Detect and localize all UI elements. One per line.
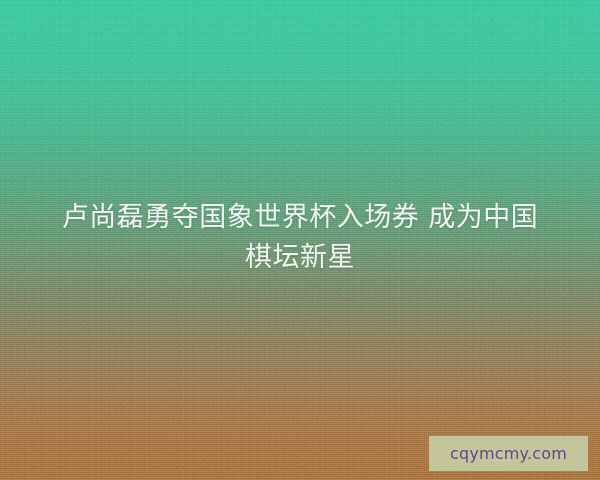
- watermark-badge: cqymcmy.com: [429, 436, 588, 471]
- watermark-site-label: cqymcmy.com: [450, 446, 567, 462]
- page-title: 卢尚磊勇夺国象世界杯入场券 成为中国 棋坛新星: [0, 198, 600, 278]
- poster-canvas: 卢尚磊勇夺国象世界杯入场券 成为中国 棋坛新星 cqymcmy.com: [0, 0, 600, 480]
